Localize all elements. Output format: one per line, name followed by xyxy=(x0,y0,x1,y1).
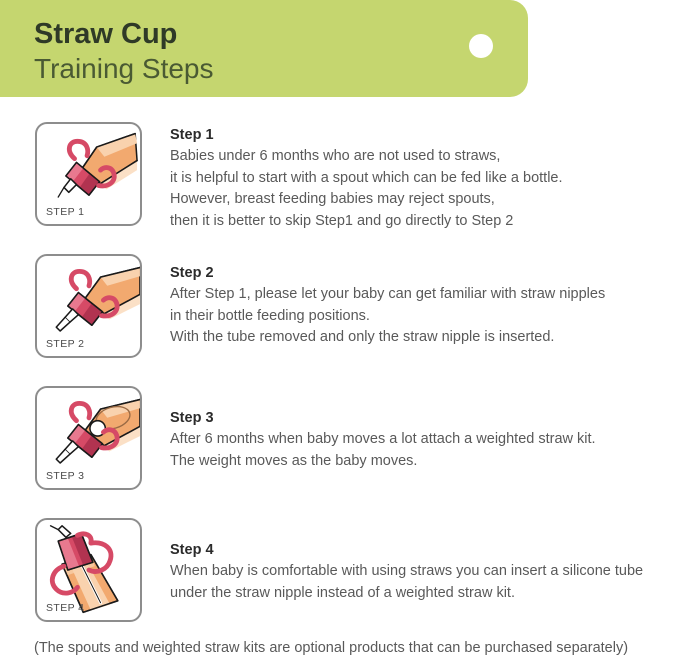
step-line: After 6 months when baby moves a lot att… xyxy=(170,429,675,451)
footer-note: (The spouts and weighted straw kits are … xyxy=(34,638,628,658)
step-box-label-4: STEP 4 xyxy=(46,602,84,614)
step-line: in their bottle feeding positions. xyxy=(170,306,675,328)
step-box-label-3: STEP 3 xyxy=(46,470,84,482)
step-line: However, breast feeding babies may rejec… xyxy=(170,189,675,211)
step-line: Babies under 6 months who are not used t… xyxy=(170,146,675,168)
step-line: With the tube removed and only the straw… xyxy=(170,327,675,349)
step-heading-1: Step 1 xyxy=(170,125,675,145)
step-heading-4: Step 4 xyxy=(170,540,675,560)
step-text-4: Step 4 When baby is comfortable with usi… xyxy=(170,540,675,604)
step-line: The weight moves as the baby moves. xyxy=(170,451,675,473)
step-line: then it is better to skip Step1 and go d… xyxy=(170,211,675,233)
page-title: Straw Cup xyxy=(34,17,177,51)
step-heading-2: Step 2 xyxy=(170,263,675,283)
step-illustration-box-3: STEP 3 xyxy=(35,386,142,490)
step-illustration-box-2: STEP 2 xyxy=(35,254,142,358)
step-line: it is helpful to start with a spout whic… xyxy=(170,168,675,190)
step-text-1: Step 1 Babies under 6 months who are not… xyxy=(170,125,675,232)
page-subtitle: Training Steps xyxy=(34,52,214,85)
step-text-2: Step 2 After Step 1, please let your bab… xyxy=(170,263,675,349)
step-box-label-1: STEP 1 xyxy=(46,206,84,218)
step-line: under the straw nipple instead of a weig… xyxy=(170,583,675,605)
step-heading-3: Step 3 xyxy=(170,408,675,428)
step-illustration-box-4: STEP 4 xyxy=(35,518,142,622)
header-tag: Straw Cup Training Steps xyxy=(0,0,528,97)
step-line: After Step 1, please let your baby can g… xyxy=(170,284,675,306)
step-line: When baby is comfortable with using stra… xyxy=(170,561,675,583)
step-illustration-box-1: STEP 1 xyxy=(35,122,142,226)
punch-hole-icon xyxy=(469,34,493,58)
step-box-label-2: STEP 2 xyxy=(46,338,84,350)
step-text-3: Step 3 After 6 months when baby moves a … xyxy=(170,408,675,472)
